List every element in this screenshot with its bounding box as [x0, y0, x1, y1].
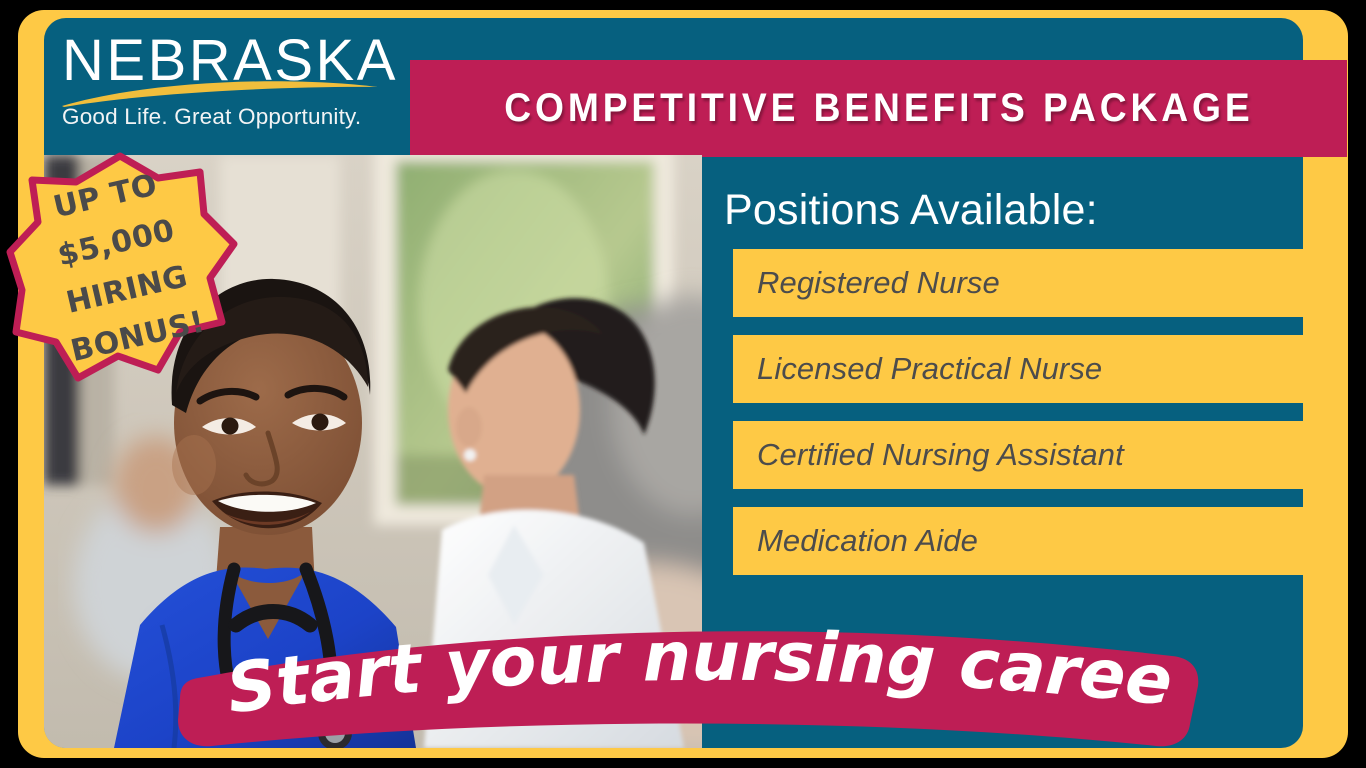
- position-label: Registered Nurse: [733, 265, 1000, 301]
- position-label: Medication Aide: [733, 523, 978, 559]
- positions-section: Positions Available: Registered Nurse Li…: [718, 186, 1308, 593]
- logo-wordmark: NEBRASKA: [62, 32, 392, 90]
- header-banner: COMPETITIVE BENEFITS PACKAGE: [410, 60, 1347, 157]
- position-row-certified-nursing-assistant[interactable]: Certified Nursing Assistant: [733, 421, 1303, 489]
- position-row-medication-aide[interactable]: Medication Aide: [733, 507, 1303, 575]
- position-label: Certified Nursing Assistant: [733, 437, 1124, 473]
- ad-canvas: NEBRASKA Good Life. Great Opportunity. C…: [0, 0, 1366, 768]
- nebraska-logo: NEBRASKA Good Life. Great Opportunity.: [62, 32, 392, 142]
- positions-title: Positions Available:: [724, 186, 1308, 235]
- cta-ribbon: Start your nursing career today!: [168, 612, 1200, 748]
- position-row-licensed-practical-nurse[interactable]: Licensed Practical Nurse: [733, 335, 1303, 403]
- cta-ribbon-shape: Start your nursing career today!: [168, 612, 1200, 748]
- starburst-badge-shape: UP TO $5,000 HIRING BONUS!: [8, 152, 236, 384]
- position-row-registered-nurse[interactable]: Registered Nurse: [733, 249, 1303, 317]
- header-banner-text: COMPETITIVE BENEFITS PACKAGE: [504, 86, 1253, 131]
- position-label: Licensed Practical Nurse: [733, 351, 1102, 387]
- hiring-bonus-badge: UP TO $5,000 HIRING BONUS!: [8, 152, 236, 384]
- logo-tagline: Good Life. Great Opportunity.: [62, 104, 392, 130]
